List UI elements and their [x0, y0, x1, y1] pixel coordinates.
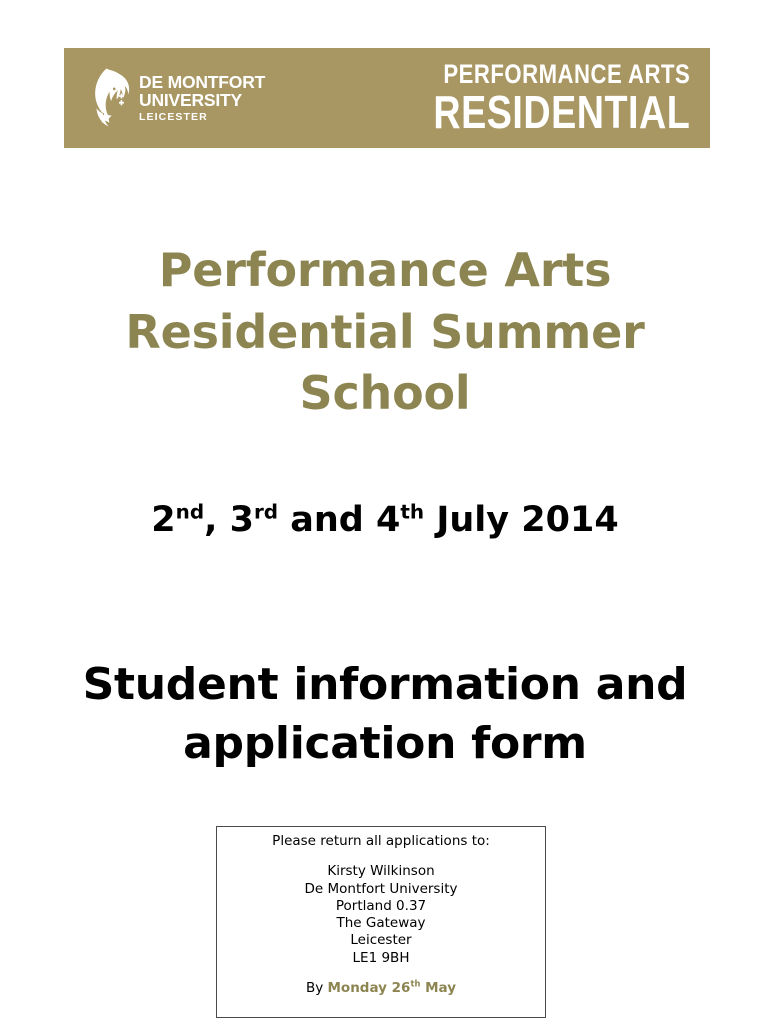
date-day-3-ordinal: th: [400, 499, 424, 523]
dmu-logo-line-2: UNIVERSITY: [139, 92, 265, 110]
page-title: Performance Arts Residential Summer Scho…: [60, 240, 710, 425]
return-deadline: By Monday 26th May: [217, 980, 545, 997]
return-address-box: Please return all applications to: Kirst…: [216, 826, 546, 1018]
return-address-line: Portland 0.37: [217, 898, 545, 915]
date-conjunction: and: [278, 500, 376, 540]
return-address-line: LE1 9BH: [217, 950, 545, 967]
deadline-prefix: By: [306, 980, 328, 996]
date-separator-1: ,: [204, 500, 229, 540]
return-address-line: The Gateway: [217, 915, 545, 932]
dmu-logo-line-3: LEICESTER: [139, 112, 265, 123]
return-address-line: Kirsty Wilkinson: [217, 863, 545, 880]
dmu-logo: DE MONTFORT UNIVERSITY LEICESTER: [86, 67, 265, 129]
event-dates: 2nd, 3rd and 4th July 2014: [60, 496, 710, 546]
deadline-month: May: [420, 980, 456, 996]
date-day-2-ordinal: rd: [254, 499, 278, 523]
date-day-1-ordinal: nd: [176, 499, 204, 523]
return-address-line: De Montfort University: [217, 881, 545, 898]
return-box-spacer-2: [217, 967, 545, 980]
date-day-1: 2: [151, 500, 175, 540]
date-month-year: July 2014: [424, 500, 619, 540]
dmu-lion-crest-icon: [86, 67, 132, 129]
return-address-line: Leicester: [217, 932, 545, 949]
banner-title-line-1: PERFORMANCE ARTS: [433, 61, 690, 87]
deadline-ordinal: th: [410, 978, 420, 988]
dmu-logo-line-1: DE MONTFORT: [139, 74, 265, 92]
banner-title-line-2: RESIDENTIAL: [433, 90, 690, 135]
deadline-date: Monday 26: [327, 980, 410, 996]
date-day-2: 3: [230, 500, 254, 540]
return-box-header: Please return all applications to:: [217, 833, 545, 850]
return-box-spacer-1: [217, 850, 545, 863]
date-day-3: 4: [376, 500, 400, 540]
banner-title: PERFORMANCE ARTS RESIDENTIAL: [377, 61, 690, 135]
page-subtitle: Student information and application form: [45, 655, 725, 774]
page-header-banner: DE MONTFORT UNIVERSITY LEICESTER PERFORM…: [64, 48, 710, 148]
dmu-logo-wordmark: DE MONTFORT UNIVERSITY LEICESTER: [139, 74, 265, 123]
